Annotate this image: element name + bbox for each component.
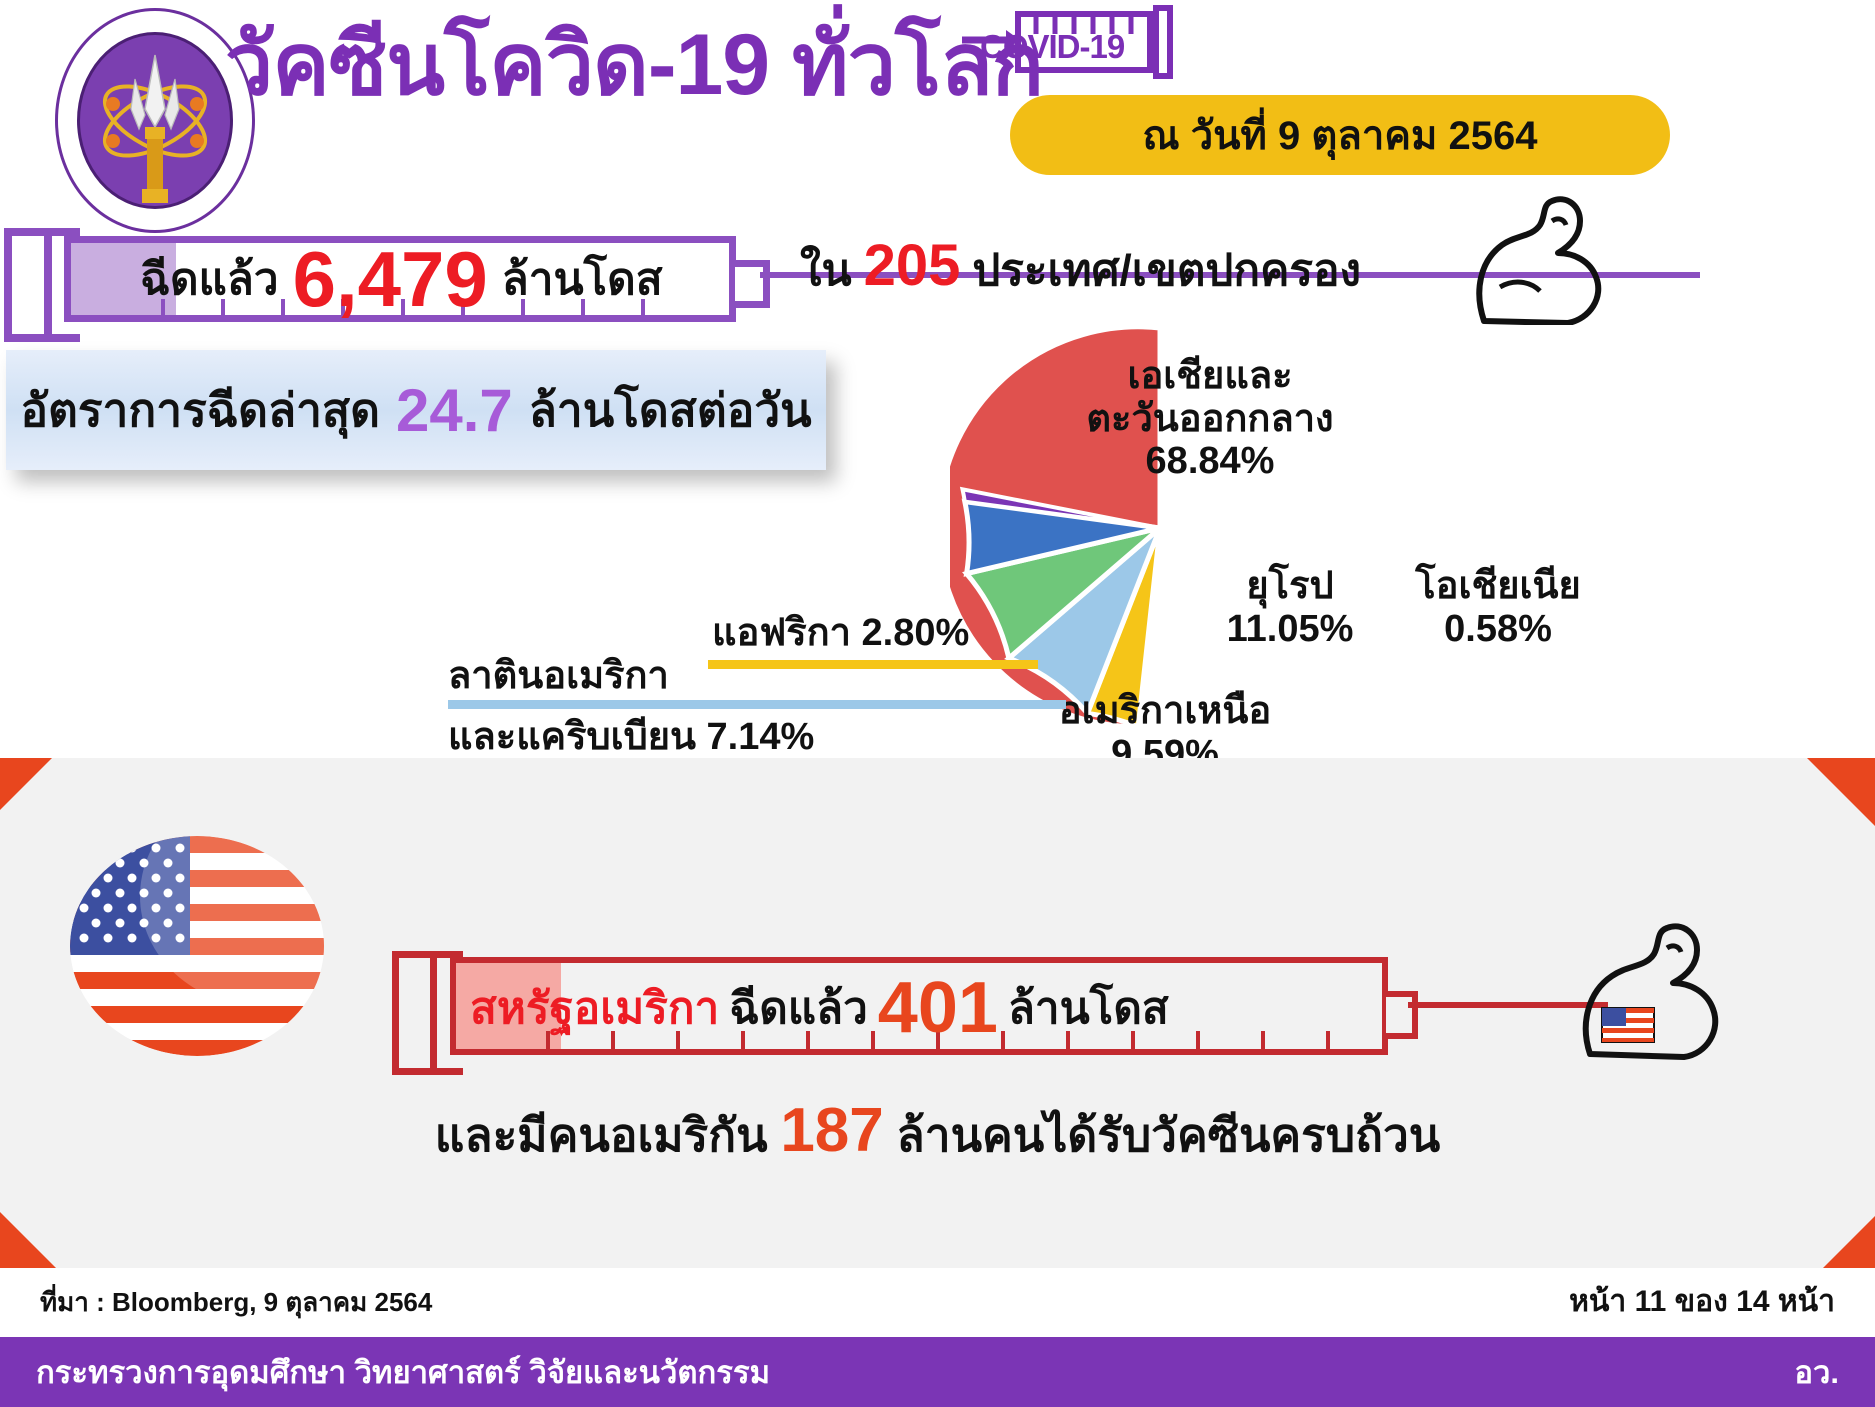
rate-value: 24.7 bbox=[396, 376, 513, 445]
countries-value: 205 bbox=[864, 232, 961, 299]
countries-suffix: ประเทศ/เขตปกครอง bbox=[972, 235, 1361, 305]
countries-count-text: ใน 205 ประเทศ/เขตปกครอง bbox=[800, 232, 1361, 305]
source-note: ที่มา : Bloomberg, 9 ตุลาคม 2564 bbox=[40, 1282, 432, 1323]
usa-fully-prefix: และมีคนอเมริกัน bbox=[435, 1109, 768, 1161]
global-doses-text: ฉีดแล้ว 6,479 ล้านโดส bbox=[140, 236, 740, 322]
pie-label-asia-l1: เอเชียและ bbox=[1060, 355, 1360, 398]
usa-flag-patch-icon bbox=[1602, 1008, 1654, 1042]
infographic-canvas: กระทรวงการอุดมศึกษา วิทยาศาสตร์ วิจัยและ… bbox=[0, 0, 1875, 1407]
usa-verb-label: ฉีดแล้ว bbox=[729, 973, 868, 1043]
flexed-arm-usa-icon bbox=[1560, 920, 1760, 1060]
pie-label-latam-l1: ลาตินอเมริกา bbox=[448, 655, 848, 698]
pie-label-namerica-name: อเมริกาเหนือ bbox=[1035, 690, 1295, 733]
usa-country-label: สหรัฐอเมริกา bbox=[470, 973, 719, 1043]
corner-triangle-top-left bbox=[0, 758, 52, 810]
syringe-plunger-outer bbox=[4, 228, 46, 342]
footer-ministry-name: กระทรวงการอุดมศึกษา วิทยาศาสตร์ วิจัยและ… bbox=[36, 1347, 770, 1397]
date-badge: ณ วันที่ 9 ตุลาคม 2564 bbox=[1010, 95, 1670, 175]
pie-label-latam-l2: และแคริบเบียน 7.14% bbox=[448, 716, 848, 759]
pie-label-europe-pct: 11.05% bbox=[1200, 608, 1380, 651]
global-doses-suffix: ล้านโดส bbox=[502, 244, 663, 314]
usa-doses-unit: ล้านโดส bbox=[1008, 973, 1169, 1043]
corner-triangle-bottom-right bbox=[1823, 1216, 1875, 1268]
usa-syringe-plunger-outer bbox=[392, 951, 431, 1075]
usa-doses-text: สหรัฐอเมริกา ฉีดแล้ว 401 ล้านโดส bbox=[470, 960, 1400, 1056]
usa-doses-value: 401 bbox=[878, 972, 998, 1044]
rate-suffix: ล้านโดสต่อวัน bbox=[529, 374, 812, 447]
usa-fully-value: 187 bbox=[780, 1096, 883, 1165]
corner-triangle-top-right bbox=[1807, 758, 1875, 826]
torch-atom-icon bbox=[95, 49, 215, 219]
daily-rate-box: อัตราการฉีดล่าสุด 24.7 ล้านโดสต่อวัน bbox=[6, 350, 826, 470]
pie-label-europe-name: ยุโรป bbox=[1200, 565, 1380, 608]
usa-fully-vaccinated-text: และมีคนอเมริกัน 187 ล้านคนได้รับวัคซีนคร… bbox=[0, 1095, 1875, 1172]
page-number: หน้า 11 ของ 14 หน้า bbox=[1569, 1278, 1835, 1325]
footer-ministry-abbr: อว. bbox=[1794, 1347, 1839, 1397]
covid19-badge-label: COVID-19 bbox=[980, 28, 1124, 66]
usa-fully-suffix: ล้านคนได้รับวัคซีนครบถ้วน bbox=[897, 1109, 1441, 1161]
pie-leader-line-latam bbox=[448, 700, 1066, 709]
pie-label-oceania-name: โอเชียเนีย bbox=[1378, 565, 1618, 608]
flexed-arm-icon bbox=[1440, 195, 1640, 325]
date-badge-label: ณ วันที่ 9 ตุลาคม 2564 bbox=[1142, 103, 1537, 167]
pie-label-oceania-pct: 0.58% bbox=[1378, 608, 1618, 651]
pie-label-asia: เอเชียและ ตะวันออกกลาง 68.84% bbox=[1060, 355, 1360, 483]
rate-prefix: อัตราการฉีดล่าสุด bbox=[20, 374, 380, 447]
corner-triangle-bottom-left bbox=[0, 1212, 56, 1268]
pie-label-asia-pct: 68.84% bbox=[1060, 440, 1360, 483]
syringe-nozzle bbox=[735, 260, 770, 308]
countries-prefix: ใน bbox=[800, 235, 852, 305]
pie-label-europe: ยุโรป 11.05% bbox=[1200, 565, 1380, 650]
global-doses-value: 6,479 bbox=[293, 240, 488, 318]
covid19-syringe-icon: COVID-19 bbox=[960, 0, 1190, 95]
page-title: วัคซีนโควิด-19 ทั่วโลก bbox=[225, 22, 1043, 108]
pie-label-asia-l2: ตะวันออกกลาง bbox=[1060, 398, 1360, 441]
pie-label-oceania: โอเชียเนีย 0.58% bbox=[1378, 565, 1618, 650]
pie-label-africa: แอฟริกา 2.80% bbox=[712, 612, 1002, 655]
usa-flag-icon bbox=[70, 836, 325, 1056]
global-doses-prefix: ฉีดแล้ว bbox=[140, 244, 279, 314]
footer-bar: กระทรวงการอุดมศึกษา วิทยาศาสตร์ วิจัยและ… bbox=[0, 1337, 1875, 1407]
